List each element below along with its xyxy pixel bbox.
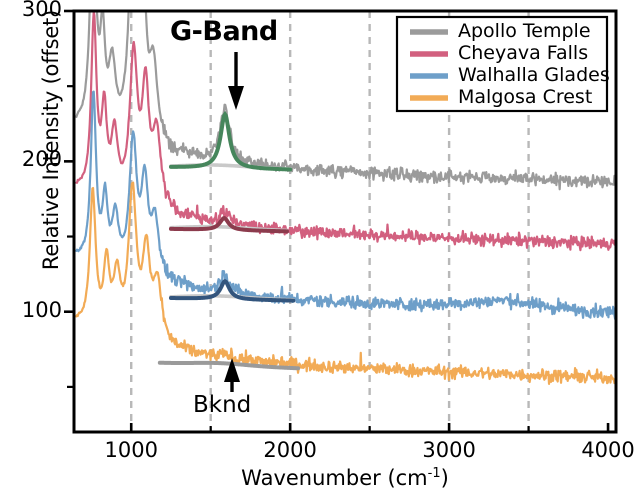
legend-label-apollo-temple: Apollo Temple (458, 20, 591, 42)
annotation-g-band-label: G-Band (170, 16, 278, 47)
x-tick-label: 2000 (240, 438, 340, 462)
legend-label-malgosa-crest: Malgosa Crest (458, 86, 592, 108)
y-axis-label: Relative Intensity (offset) (39, 0, 63, 290)
annotation-bknd-label: Bknd (193, 392, 251, 418)
x-tick-label: 1000 (81, 438, 181, 462)
x-axis-label-exponent: -1 (428, 466, 441, 481)
x-axis-label-base: Wavenumber (cm (241, 466, 427, 490)
y-tick-label: 200 (0, 147, 62, 171)
y-tick-label: 300 (0, 0, 62, 21)
legend-label-cheyava-falls: Cheyava Falls (458, 42, 588, 64)
x-tick-label: 4000 (558, 438, 640, 462)
x-tick-label: 3000 (399, 438, 499, 462)
x-axis-label: Wavenumber (cm-1) (74, 466, 616, 490)
x-axis-label-tail: ) (441, 466, 449, 490)
legend-label-walhalla-glades: Walhalla Glades (458, 64, 610, 86)
y-tick-label: 100 (0, 298, 62, 322)
